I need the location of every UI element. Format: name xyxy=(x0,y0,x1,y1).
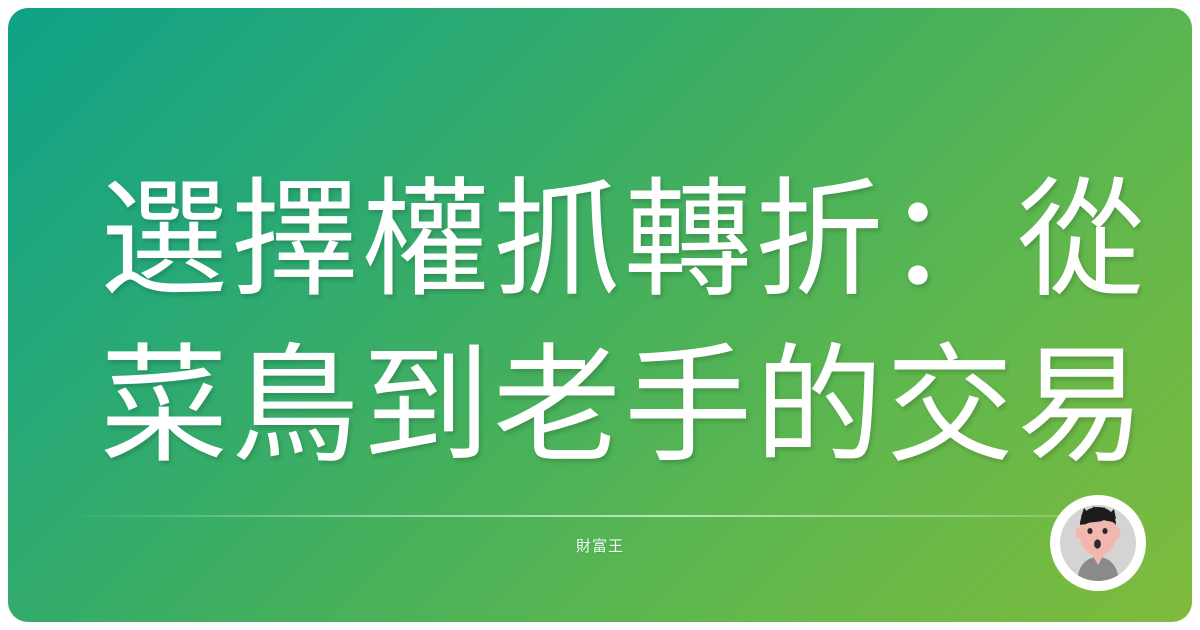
title-line-1: 選擇權抓轉折：從 xyxy=(100,158,1192,324)
byline-author: 財富王 xyxy=(8,535,1192,556)
author-avatar-icon xyxy=(1042,487,1154,599)
page-title: 選擇權抓轉折：從 菜鳥到老手的交易 xyxy=(100,158,1192,498)
title-line-2: 菜鳥到老手的交易 xyxy=(100,324,1192,490)
avatar xyxy=(1042,487,1154,599)
divider xyxy=(73,515,1143,517)
og-image-card: 選擇權抓轉折：從 菜鳥到老手的交易 財富王 xyxy=(8,8,1192,622)
